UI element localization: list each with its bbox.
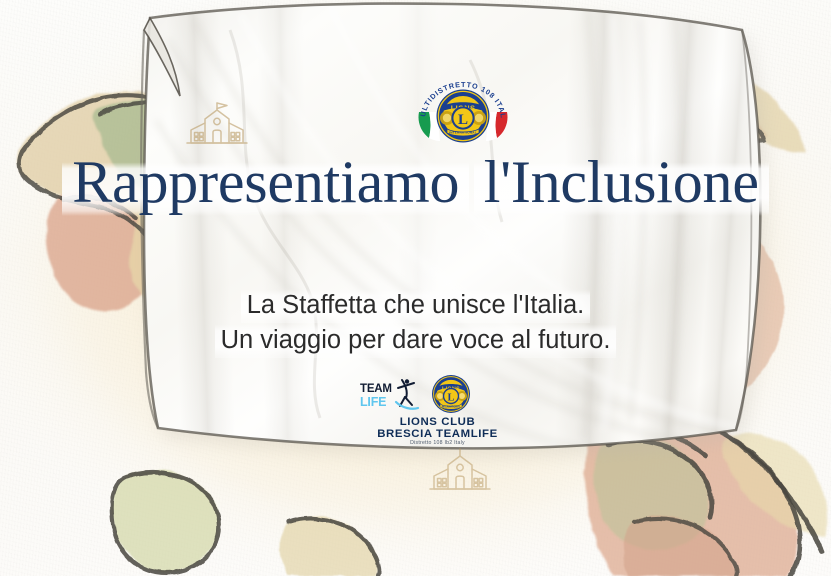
subtitle-line-1: La Staffetta che unisce l'Italia. <box>241 288 591 323</box>
svg-text:LIFE: LIFE <box>360 395 386 409</box>
svg-text:INTERNATIONAL: INTERNATIONAL <box>441 405 460 408</box>
svg-text:L: L <box>447 393 454 404</box>
lions-multidistretto-emblem: LIONS L INTERNATIONAL MULTIDISTRETTO 108… <box>409 76 517 148</box>
school-building-icon <box>424 443 496 499</box>
sponsor-logos: TEAM LIFE <box>0 372 831 447</box>
club-name-line-2: BRESCIA TEAMLIFE <box>377 429 498 441</box>
school-building-icon <box>181 97 253 153</box>
teamlife-logo: TEAM LIFE <box>358 378 420 412</box>
poster-content: LIONS L INTERNATIONAL MULTIDISTRETTO 108… <box>0 0 831 576</box>
subtitle: La Staffetta che unisce l'Italia. Un via… <box>0 288 831 358</box>
svg-text:TEAM: TEAM <box>360 383 392 395</box>
svg-text:L: L <box>458 112 468 128</box>
subtitle-line-2: Un viaggio per dare voce al futuro. <box>215 323 617 358</box>
poster-canvas: LIONS L INTERNATIONAL MULTIDISTRETTO 108… <box>0 0 831 576</box>
lions-club-emblem: LIONS L INTERNATIONAL <box>428 372 474 416</box>
page-title: Rappresentiamo l'Inclusione <box>0 150 831 216</box>
title-line-2: l'Inclusione <box>474 152 769 216</box>
svg-text:INTERNATIONAL: INTERNATIONAL <box>449 131 477 135</box>
club-name-line-1: LIONS CLUB <box>377 417 498 429</box>
logo-row: TEAM LIFE <box>358 372 474 416</box>
title-line-1: Rappresentiamo <box>62 152 469 216</box>
